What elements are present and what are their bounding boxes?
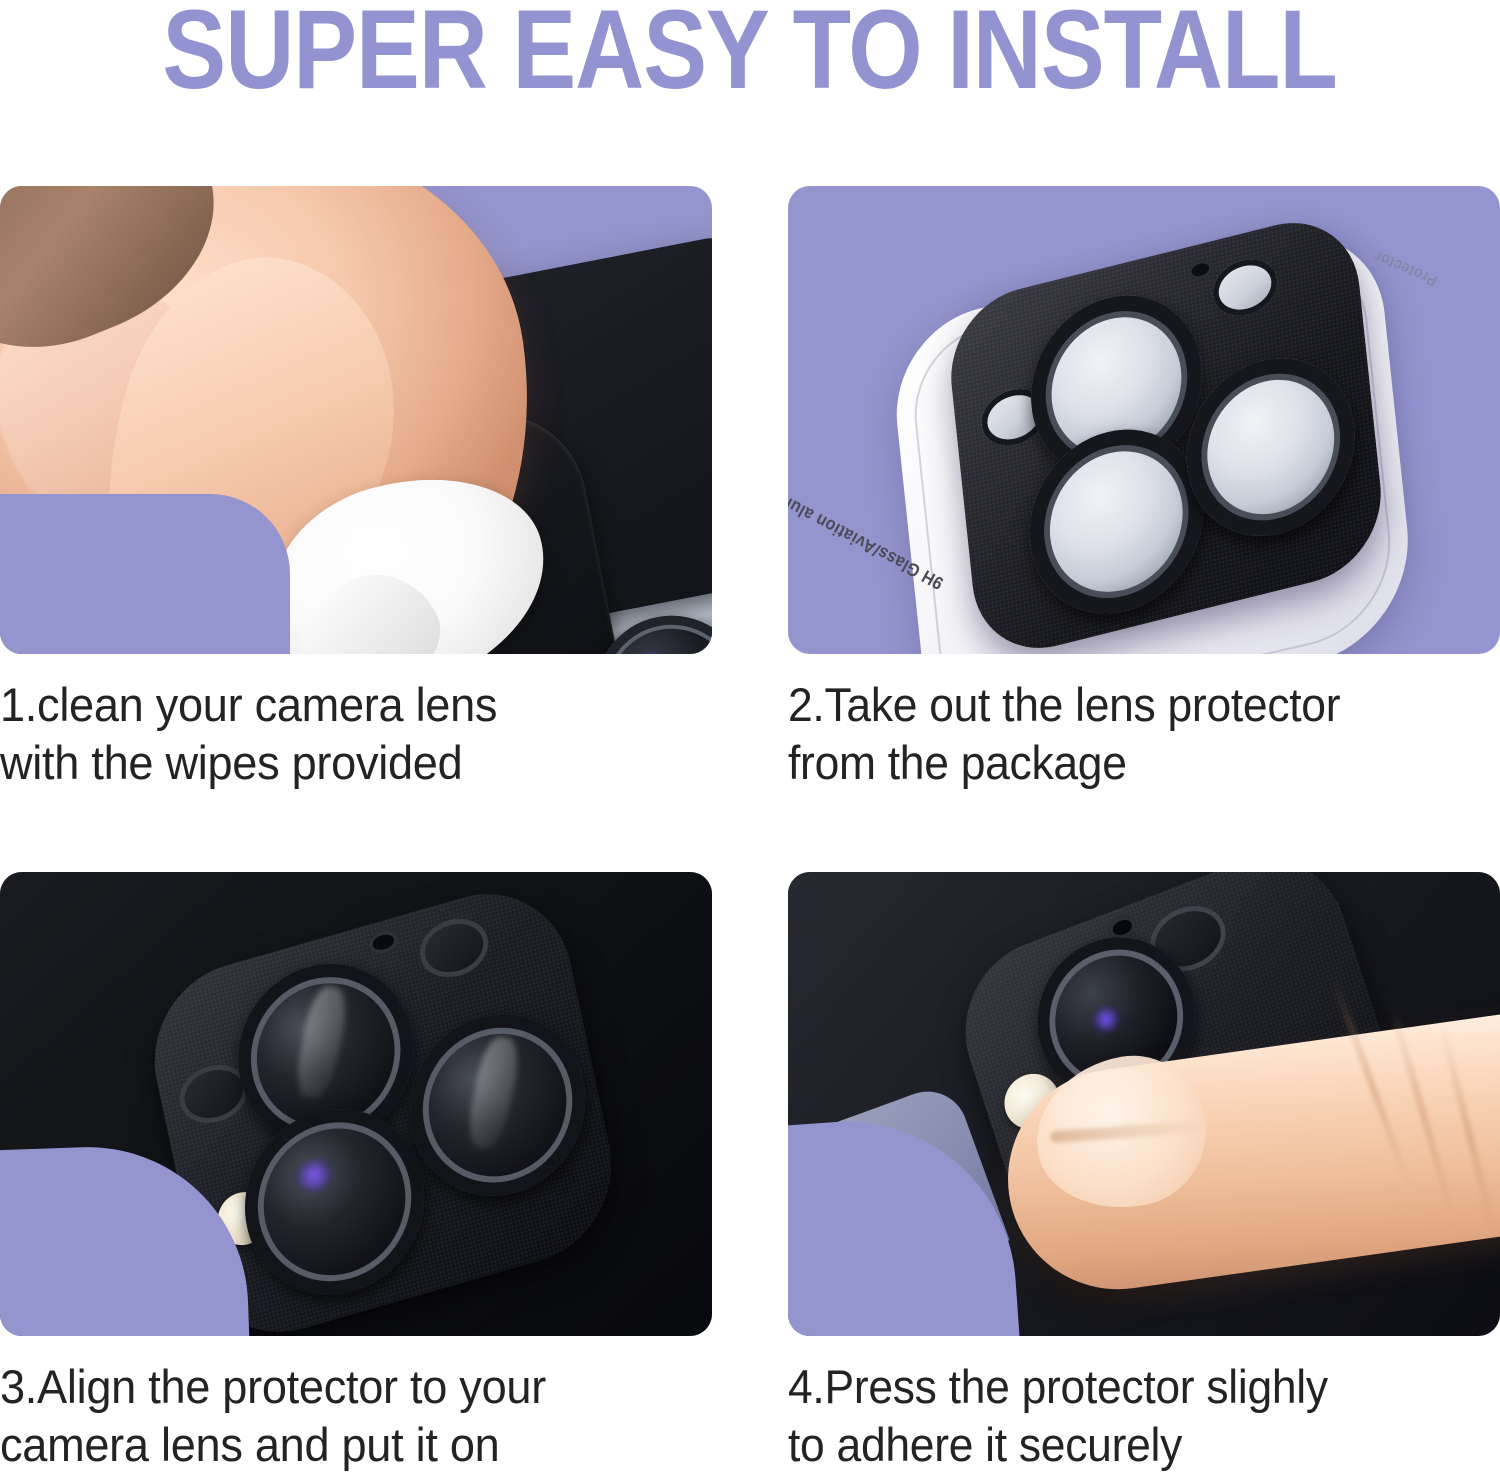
step-photo-1 — [0, 186, 712, 654]
step-photo-4 — [788, 872, 1500, 1336]
page-title: SUPER EASY TO INSTALL — [163, 0, 1337, 106]
step-caption-2: 2.Take out the lens protector from the p… — [788, 676, 1461, 792]
lens-glare — [463, 1035, 523, 1152]
lidar-cutout — [415, 911, 494, 985]
header-banner: SUPER EASY TO INSTALL — [0, 0, 1500, 100]
step-card-1: 1.clean your camera lens with the wipes … — [0, 186, 712, 792]
camera-lens — [228, 1087, 441, 1316]
steps-grid: 1.clean your camera lens with the wipes … — [0, 186, 1500, 1474]
step-card-2: 9H Glass/Aviation aluminum Protector 2.T… — [788, 186, 1500, 792]
step-photo-2: 9H Glass/Aviation aluminum Protector — [788, 186, 1500, 654]
step-caption-1: 1.clean your camera lens with the wipes … — [0, 676, 684, 792]
camera-lens — [393, 993, 601, 1217]
step-caption-4: 4.Press the protector slighly to adhere … — [788, 1358, 1461, 1474]
backing-edge-label: Protector — [1371, 247, 1440, 290]
step-card-3: 3.Align the protector to your camera len… — [0, 872, 712, 1474]
mic-hole — [1188, 258, 1213, 282]
lens-flare — [1087, 1001, 1125, 1037]
lens-glare — [291, 984, 351, 1101]
step-caption-3: 3.Align the protector to your camera len… — [0, 1358, 684, 1474]
mic-hole — [367, 927, 400, 957]
protector-lens-ring — [1178, 340, 1363, 554]
lens-flare — [290, 1153, 339, 1197]
panel-corner-fill — [0, 494, 290, 654]
step-photo-3 — [0, 872, 712, 1336]
lidar-cutout — [1210, 252, 1280, 322]
step-card-4: 4.Press the protector slighly to adhere … — [788, 872, 1500, 1474]
